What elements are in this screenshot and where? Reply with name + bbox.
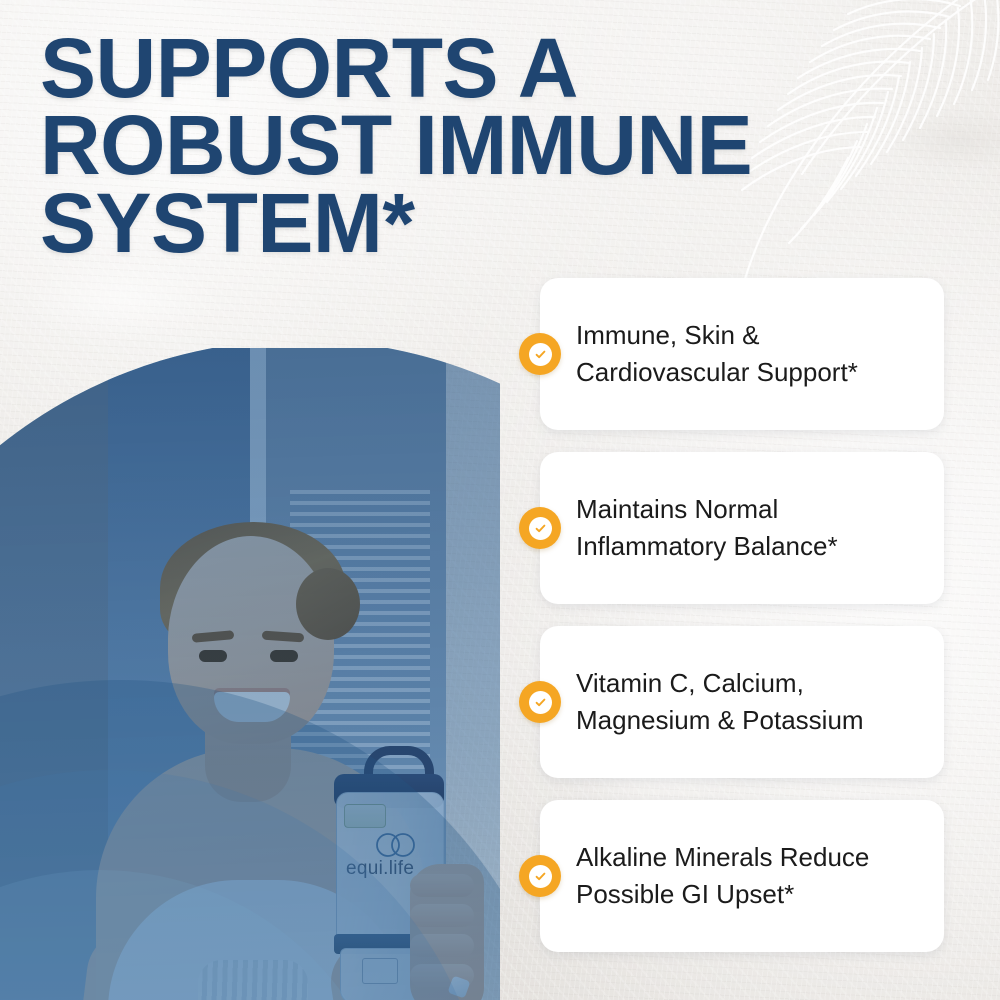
check-badge-3	[519, 681, 561, 723]
feature-card-4[interactable]: Alkaline Minerals Reduce Possible GI Ups…	[540, 800, 944, 952]
check-badge-2	[519, 507, 561, 549]
feature-card-2-text: Maintains Normal Inflammatory Balance*	[540, 491, 860, 565]
feature-2-line-1: Maintains Normal	[576, 491, 838, 528]
feature-card-3[interactable]: Vitamin C, Calcium, Magnesium & Potassiu…	[540, 626, 944, 778]
promo-infographic: SUPPORTS A ROBUST IMMUNE SYSTEM*	[0, 0, 1000, 1000]
feature-card-1-text: Immune, Skin & Cardiovascular Support*	[540, 317, 880, 391]
headline-line-1: SUPPORTS A	[40, 30, 960, 107]
feature-card-1[interactable]: Immune, Skin & Cardiovascular Support*	[540, 278, 944, 430]
feature-1-line-2: Cardiovascular Support*	[576, 354, 858, 391]
headline-line-2: ROBUST IMMUNE	[40, 107, 960, 184]
headline-line-3: SYSTEM*	[40, 185, 960, 262]
check-icon-4	[529, 865, 552, 888]
feature-1-line-1: Immune, Skin &	[576, 317, 858, 354]
check-badge-4	[519, 855, 561, 897]
check-icon-3	[529, 691, 552, 714]
feature-4-line-2: Possible GI Upset*	[576, 876, 869, 913]
feature-4-line-1: Alkaline Minerals Reduce	[576, 839, 869, 876]
photo-blue-overlay-2	[0, 348, 500, 1000]
feature-card-4-text: Alkaline Minerals Reduce Possible GI Ups…	[540, 839, 891, 913]
feature-3-line-2: Magnesium & Potassium	[576, 702, 864, 739]
check-icon-1	[529, 343, 552, 366]
photo-circle-mask: equi.life	[0, 348, 500, 1000]
feature-card-2[interactable]: Maintains Normal Inflammatory Balance*	[540, 452, 944, 604]
photo-content: equi.life	[0, 348, 500, 1000]
hero-photo: equi.life	[0, 348, 500, 1000]
page-title: SUPPORTS A ROBUST IMMUNE SYSTEM*	[40, 30, 960, 262]
check-badge-1	[519, 333, 561, 375]
feature-2-line-2: Inflammatory Balance*	[576, 528, 838, 565]
check-icon-2	[529, 517, 552, 540]
feature-card-3-text: Vitamin C, Calcium, Magnesium & Potassiu…	[540, 665, 886, 739]
feature-3-line-1: Vitamin C, Calcium,	[576, 665, 864, 702]
